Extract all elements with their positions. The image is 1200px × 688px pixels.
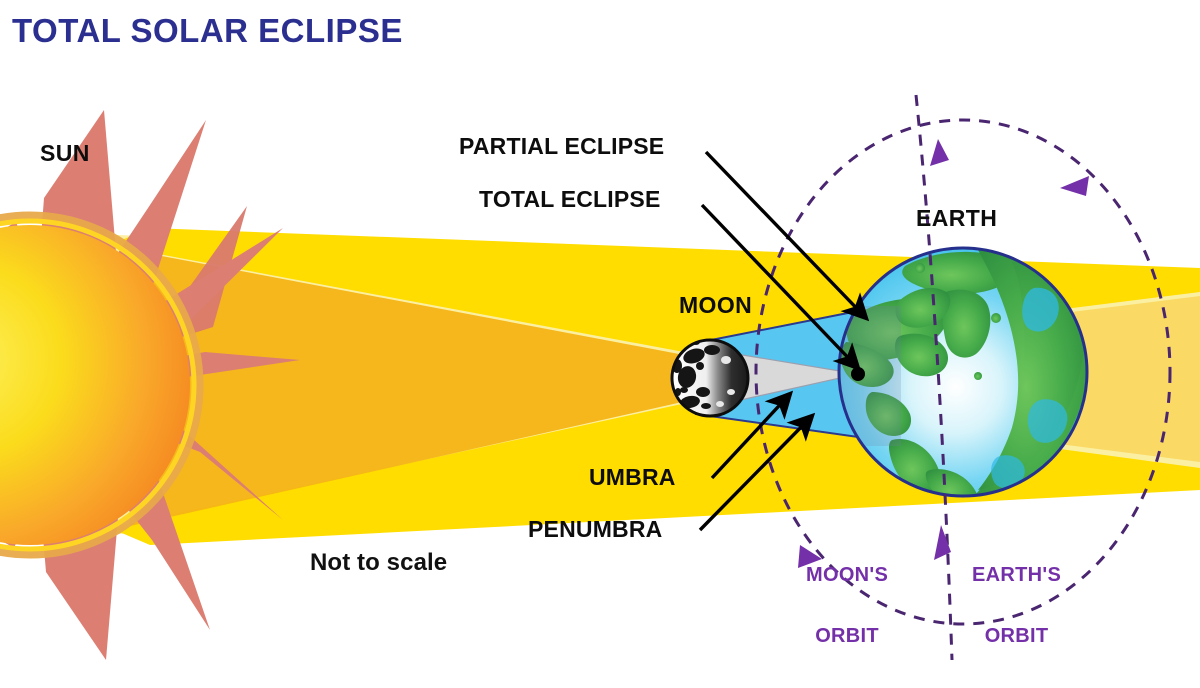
- earths-orbit-label-line1: EARTH'S: [972, 565, 1061, 585]
- partial-eclipse-label: PARTIAL ECLIPSE: [459, 135, 664, 158]
- moons-orbit-label-line1: MOON'S: [806, 565, 888, 585]
- total-eclipse-label: TOTAL ECLIPSE: [479, 188, 661, 211]
- earth-orbit-arrow-top: [930, 139, 949, 166]
- moons-orbit-label: MOON'S ORBIT: [806, 524, 888, 687]
- moon-group: [672, 339, 748, 416]
- eclipse-diagram-page: TOTAL SOLAR ECLIPSE SUN MOON EARTH PARTI…: [0, 0, 1200, 675]
- page-title: TOTAL SOLAR ECLIPSE: [12, 14, 403, 48]
- umbra-contact-point: [851, 367, 865, 381]
- earth-label: EARTH: [916, 207, 997, 230]
- moons-orbit-label-line2: ORBIT: [806, 626, 888, 646]
- earths-orbit-label-line2: ORBIT: [972, 626, 1061, 646]
- umbra-label: UMBRA: [589, 466, 676, 489]
- penumbra-label: PENUMBRA: [528, 518, 663, 541]
- not-to-scale-note: Not to scale: [310, 549, 447, 577]
- moon-label: MOON: [679, 294, 752, 317]
- sun-label: SUN: [40, 142, 90, 165]
- earths-orbit-label: EARTH'S ORBIT: [972, 524, 1061, 687]
- moon-orbit-arrow-top: [1060, 176, 1089, 196]
